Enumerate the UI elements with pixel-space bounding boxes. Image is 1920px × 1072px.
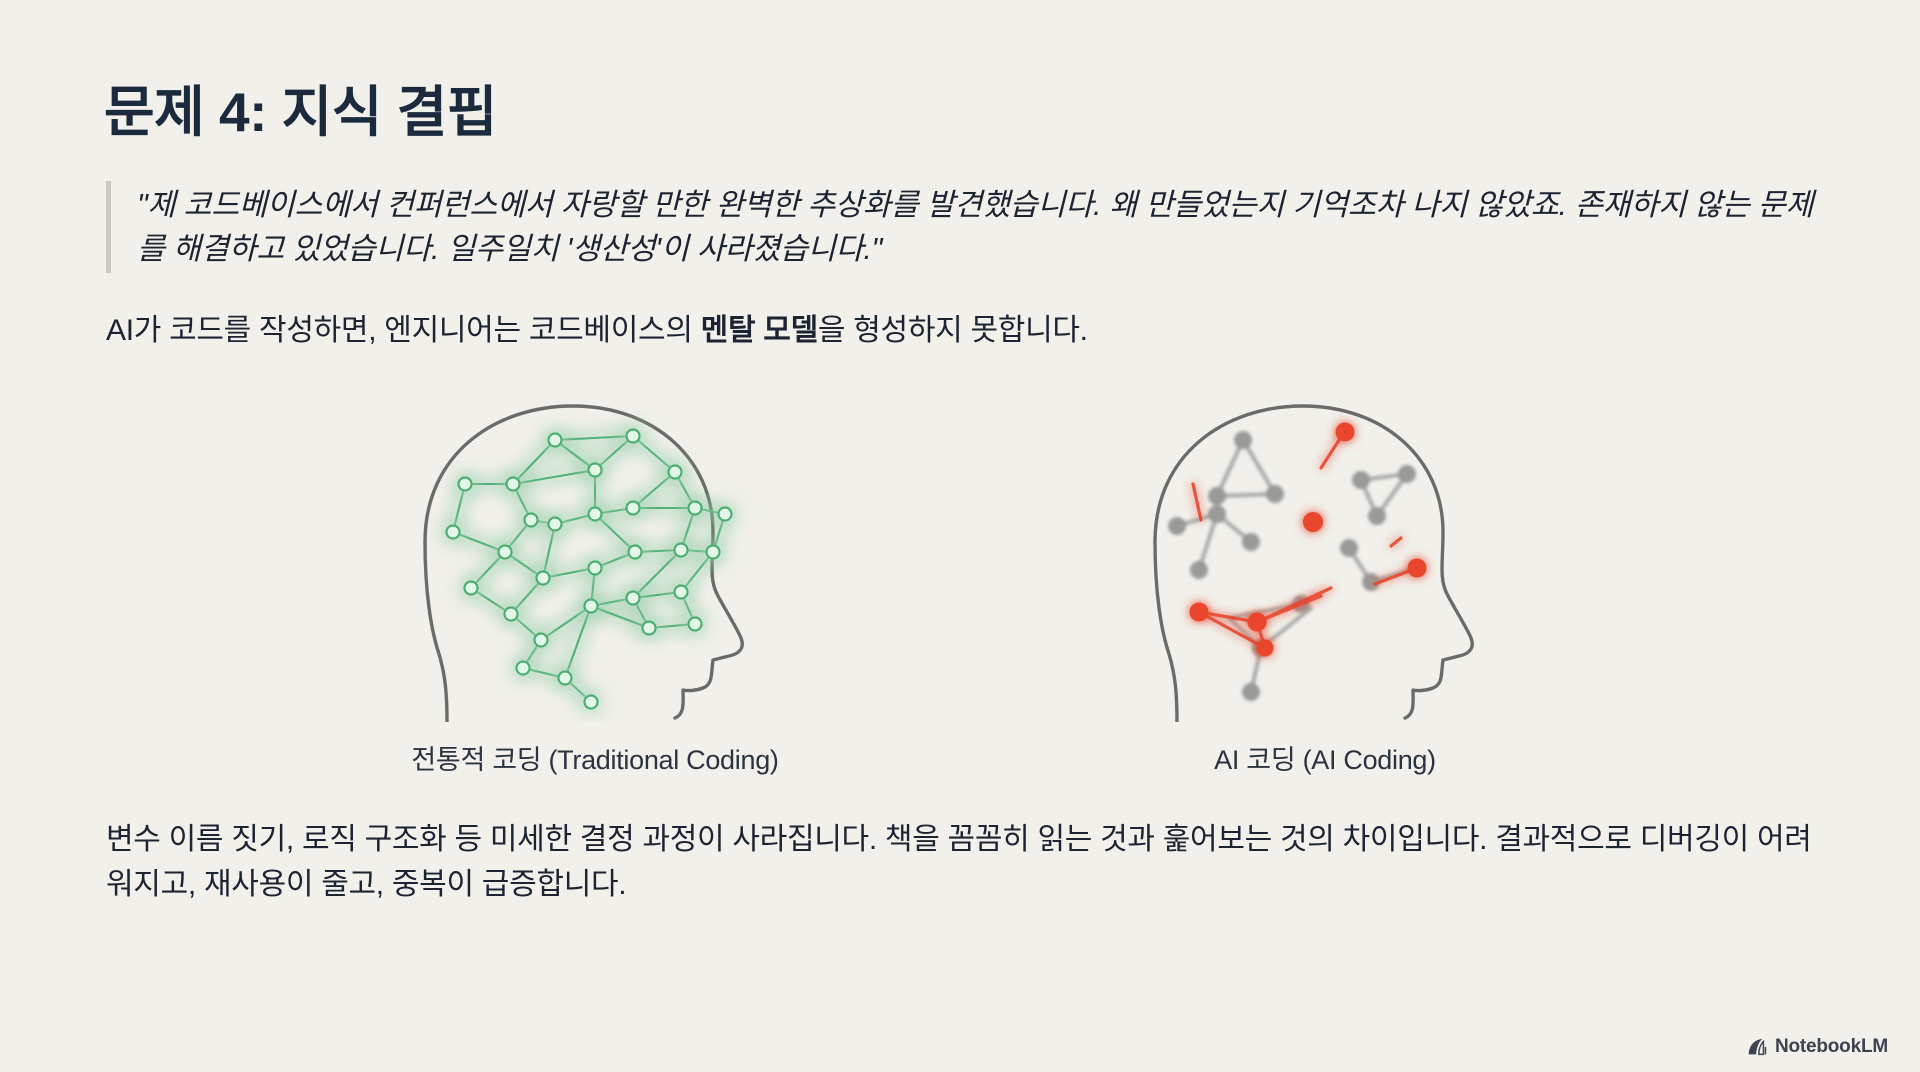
figure-caption-traditional: 전통적 코딩 (Traditional Coding) bbox=[411, 738, 778, 777]
figure-ai-coding: AI 코딩 (AI Coding) bbox=[1045, 392, 1605, 777]
figure-row: 전통적 코딩 (Traditional Coding) bbox=[100, 392, 1820, 777]
lead-paragraph: AI가 코드를 작성하면, 엔지니어는 코드베이스의 멘탈 모델을 형성하지 못… bbox=[106, 309, 1820, 353]
watermark-label: NotebookLM bbox=[1775, 1036, 1888, 1058]
notebooklm-logo-icon bbox=[1746, 1036, 1768, 1058]
slide-root: 문제 4: 지식 결핍 "제 코드베이스에서 컨퍼런스에서 자랑할 만한 완벽한… bbox=[0, 0, 1920, 1072]
watermark: NotebookLM bbox=[1746, 1036, 1888, 1058]
figure-traditional-coding: 전통적 코딩 (Traditional Coding) bbox=[315, 392, 875, 777]
head-dense-network-icon bbox=[395, 392, 795, 722]
bottom-paragraph: 변수 이름 짓기, 로직 구조화 등 미세한 결정 과정이 사라집니다. 책을 … bbox=[106, 817, 1820, 907]
quote-block: "제 코드베이스에서 컨퍼런스에서 자랑할 만한 완벽한 추상화를 발견했습니다… bbox=[106, 181, 1820, 273]
lead-paragraph-after: 을 형성하지 못합니다. bbox=[818, 314, 1088, 347]
lead-paragraph-before: AI가 코드를 작성하면, 엔지니어는 코드베이스의 bbox=[106, 314, 701, 347]
head-fragmented-network-icon bbox=[1125, 392, 1525, 722]
page-title: 문제 4: 지식 결핍 bbox=[104, 82, 1820, 143]
quote-text: "제 코드베이스에서 컨퍼런스에서 자랑할 만한 완벽한 추상화를 발견했습니다… bbox=[137, 183, 1820, 271]
figure-caption-ai: AI 코딩 (AI Coding) bbox=[1214, 738, 1436, 777]
lead-paragraph-emphasis: 멘탈 모델 bbox=[701, 314, 818, 347]
